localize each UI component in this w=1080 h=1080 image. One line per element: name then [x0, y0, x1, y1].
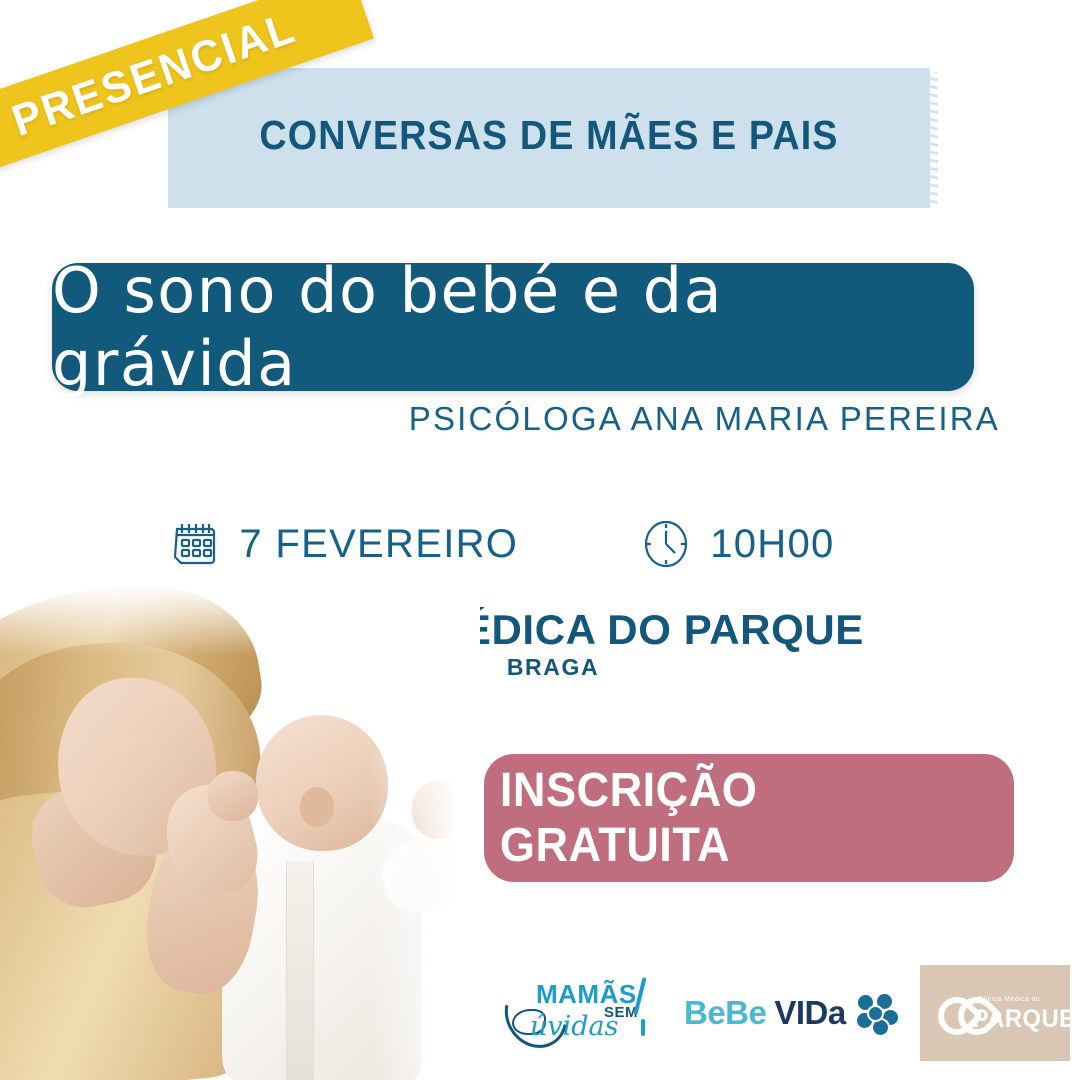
parque-tagline: Clínica Médica do	[978, 996, 1040, 1003]
parque-word: PARQUE	[972, 1005, 1075, 1034]
vida-word: VIDa	[774, 994, 845, 1032]
bebe-word: BeBe	[684, 994, 766, 1032]
bebevida-logo: BeBe VIDa	[684, 992, 896, 1034]
cta-label: INSCRIÇÃO GRATUITA	[500, 763, 998, 873]
venue-city: BRAGA	[507, 654, 599, 681]
time-text: 10H00	[710, 522, 834, 567]
exclamation-mark-icon	[641, 1019, 645, 1036]
event-title: O sono do bebé e da grávida	[52, 254, 974, 400]
partner-logos: MAMÃS SEM úvidas BeBe VIDa Clínica Médic…	[500, 960, 1080, 1066]
date-time-row: 7 FEVEREIRO 10H00	[0, 515, 1000, 573]
clock-icon	[638, 516, 694, 572]
event-poster: CONVERSAS DE MÃES E PAIS PRESENCIAL O so…	[0, 0, 1080, 1080]
registration-cta-button[interactable]: INSCRIÇÃO GRATUITA	[484, 754, 1014, 882]
cell-cluster-icon	[854, 992, 896, 1034]
clinica-medica-do-parque-logo: Clínica Médica do PARQUE	[920, 965, 1070, 1061]
mother-and-baby-photo	[0, 585, 480, 1080]
mamas-sem-duvidas-logo: MAMÃS SEM úvidas	[500, 975, 660, 1051]
speaker-name: PSICÓLOGA ANA MARIA PEREIRA	[0, 400, 1000, 438]
date-text: 7 FEVEREIRO	[239, 522, 518, 567]
date-item: 7 FEVEREIRO	[165, 515, 518, 573]
series-title: CONVERSAS DE MÃES E PAIS	[198, 112, 899, 159]
event-title-banner: O sono do bebé e da grávida	[52, 263, 974, 391]
calendar-icon	[165, 515, 223, 573]
duvidas-word: úvidas	[530, 1011, 619, 1042]
time-item: 10H00	[638, 516, 834, 572]
